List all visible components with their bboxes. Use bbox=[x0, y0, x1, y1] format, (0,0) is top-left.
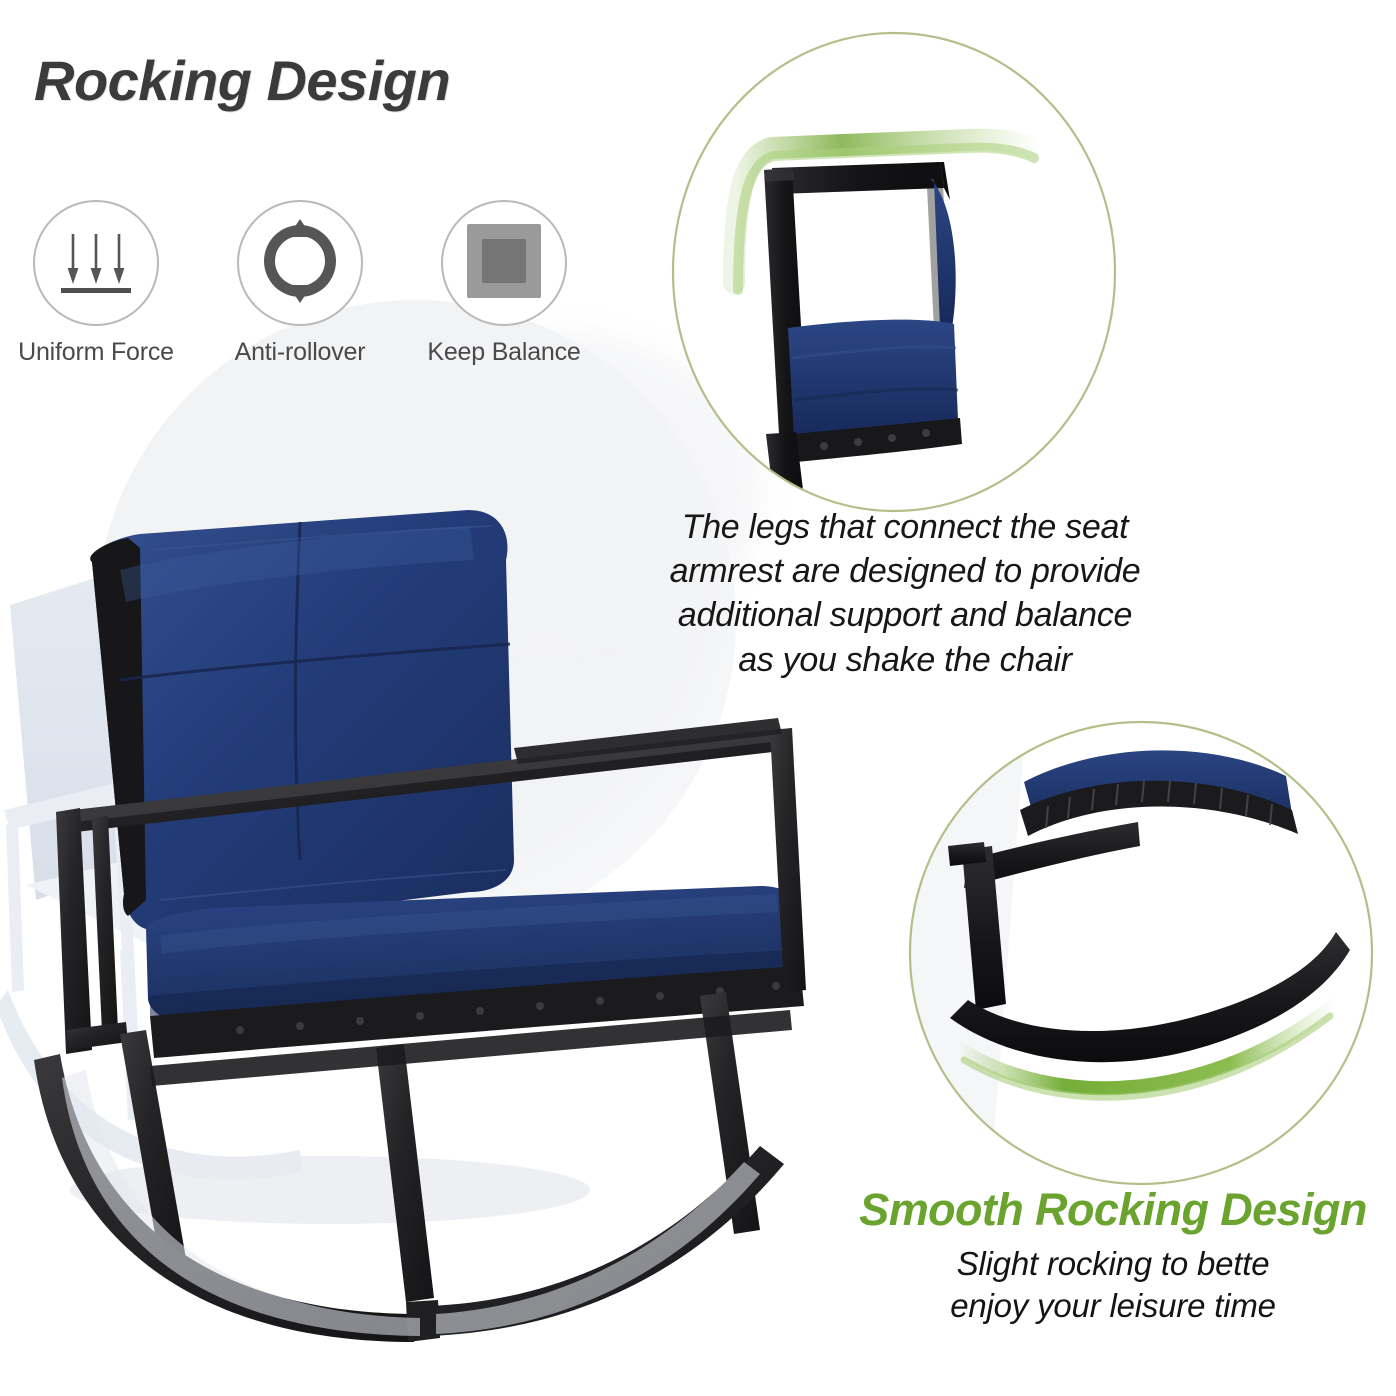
feature-circle bbox=[441, 200, 567, 326]
feature-label: Anti-rollover bbox=[235, 338, 366, 367]
bottom-callout-line: Slight rocking to bette bbox=[830, 1243, 1396, 1285]
callout-line: armrest are designed to provide bbox=[612, 549, 1198, 593]
callout-line: additional support and balance bbox=[612, 593, 1198, 637]
circular-rotation-arrows-icon bbox=[254, 215, 346, 312]
down-arrows-on-bar-icon bbox=[53, 218, 139, 309]
feature-icon-row: Uniform Force Anti-rollover bbox=[22, 200, 578, 367]
feature-anti-rollover: Anti-rollover bbox=[226, 200, 374, 367]
back-cushion bbox=[90, 510, 514, 931]
feature-circle bbox=[237, 200, 363, 326]
bottom-callout-line: enjoy your leisure time bbox=[830, 1285, 1396, 1327]
bottom-callout-subtitle: Slight rocking to bette enjoy your leisu… bbox=[830, 1243, 1396, 1327]
rocker-base-detail-inset bbox=[906, 718, 1376, 1188]
armrest-leg-detail-inset bbox=[668, 28, 1120, 516]
nested-squares-icon bbox=[465, 222, 543, 305]
callout-line: as you shake the chair bbox=[612, 638, 1198, 682]
bottom-callout-title: Smooth Rocking Design bbox=[830, 1186, 1396, 1235]
feature-circle bbox=[33, 200, 159, 326]
page-title: Rocking Design bbox=[34, 48, 450, 113]
feature-label: Uniform Force bbox=[18, 338, 174, 367]
feature-uniform-force: Uniform Force bbox=[22, 200, 170, 367]
feature-keep-balance: Keep Balance bbox=[430, 200, 578, 367]
feature-label: Keep Balance bbox=[427, 338, 580, 367]
rocker-base bbox=[34, 992, 792, 1342]
bottom-callout: Smooth Rocking Design Slight rocking to … bbox=[830, 1186, 1396, 1327]
callout-line: The legs that connect the seat bbox=[612, 505, 1198, 549]
callout-legs-support: The legs that connect the seat armrest a… bbox=[612, 505, 1198, 682]
